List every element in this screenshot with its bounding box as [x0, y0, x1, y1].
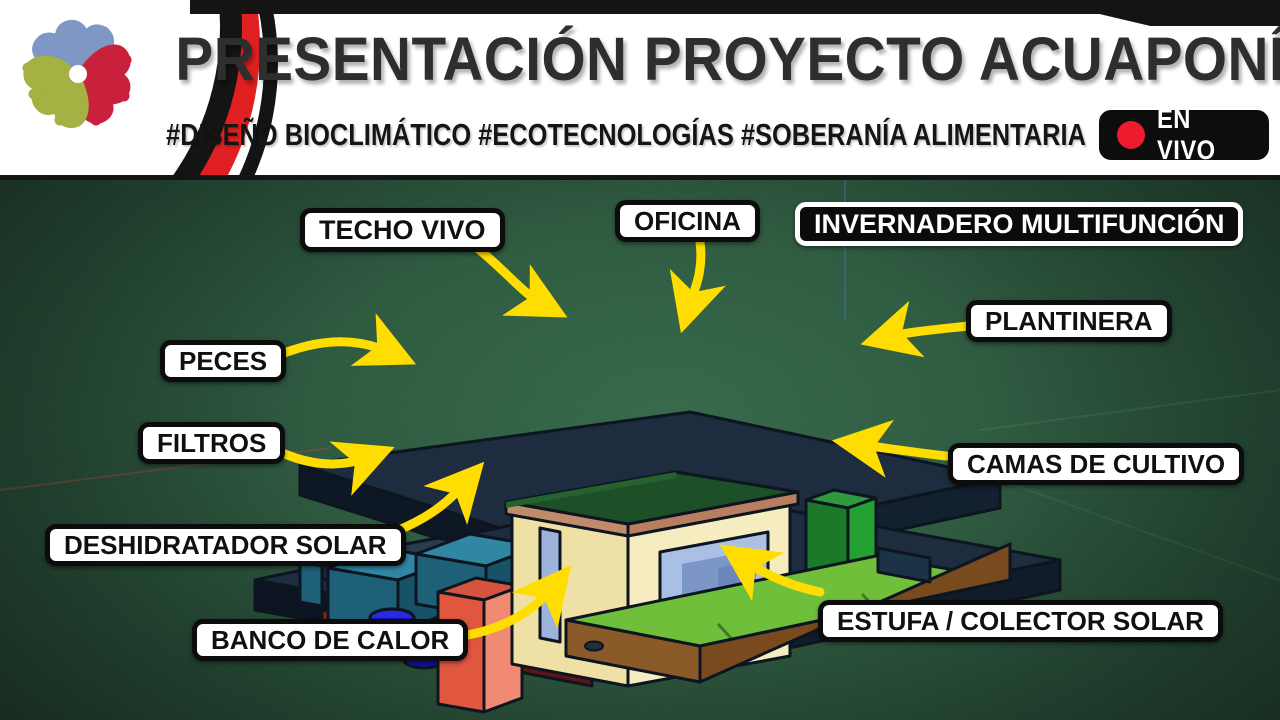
- presentation-screenshot: PRESENTACIÓN PROYECTO ACUAPONÍA #DISEÑO …: [0, 0, 1280, 720]
- flower-pinwheel-logo: [16, 12, 140, 136]
- label-plantinera-text: PLANTINERA: [985, 306, 1153, 337]
- record-dot-icon: [1117, 121, 1145, 149]
- label-plantinera[interactable]: PLANTINERA: [966, 300, 1172, 342]
- label-oficina[interactable]: OFICINA: [615, 200, 760, 242]
- status-badge-live: EN VIVO: [1099, 110, 1269, 160]
- label-banco-de-calor-text: BANCO DE CALOR: [211, 625, 449, 656]
- label-oficina-text: OFICINA: [634, 206, 741, 237]
- label-deshidratador-solar[interactable]: DESHIDRATADOR SOLAR: [45, 524, 406, 566]
- label-peces[interactable]: PECES: [160, 340, 286, 382]
- label-filtros[interactable]: FILTROS: [138, 422, 285, 464]
- page-subtitle: #DISEÑO BIOCLIMÁTICO #ECOTECNOLOGÍAS #SO…: [257, 110, 995, 160]
- label-camas-de-cultivo[interactable]: CAMAS DE CULTIVO: [948, 443, 1244, 485]
- label-camas-de-cultivo-text: CAMAS DE CULTIVO: [967, 449, 1225, 480]
- label-estufa-colector-solar[interactable]: ESTUFA / COLECTOR SOLAR: [818, 600, 1223, 642]
- label-techo-vivo[interactable]: TECHO VIVO: [300, 208, 505, 252]
- live-label: EN VIVO: [1157, 104, 1256, 166]
- label-techo-vivo-text: TECHO VIVO: [319, 215, 486, 246]
- label-peces-text: PECES: [179, 346, 267, 377]
- label-banco-de-calor[interactable]: BANCO DE CALOR: [192, 619, 468, 661]
- label-estufa-colector-solar-text: ESTUFA / COLECTOR SOLAR: [837, 606, 1204, 637]
- label-invernadero-text: INVERNADERO MULTIFUNCIÓN: [814, 209, 1224, 240]
- label-deshidratador-solar-text: DESHIDRATADOR SOLAR: [64, 530, 387, 561]
- label-filtros-text: FILTROS: [157, 428, 266, 459]
- diagram-canvas: TECHO VIVO OFICINA INVERNADERO MULTIFUNC…: [0, 180, 1280, 720]
- header-divider: [0, 175, 1280, 180]
- label-invernadero-multifuncion[interactable]: INVERNADERO MULTIFUNCIÓN: [795, 202, 1243, 246]
- header-banner: PRESENTACIÓN PROYECTO ACUAPONÍA #DISEÑO …: [0, 0, 1280, 180]
- page-title: PRESENTACIÓN PROYECTO ACUAPONÍA: [272, 18, 1230, 100]
